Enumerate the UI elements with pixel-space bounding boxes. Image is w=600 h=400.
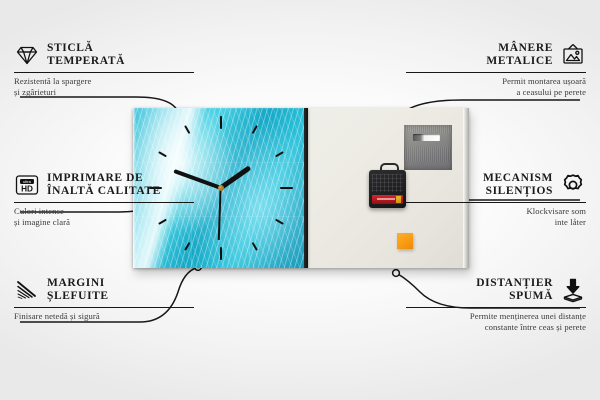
metal-hanger-plate [404,125,452,170]
feature-high-quality-print: ultra HD IMPRIMARE DE ÎNALTĂ CALITATE Cu… [14,172,194,227]
feature-subtitle-line2: și imagine clară [14,217,194,228]
svg-text:HD: HD [21,185,33,194]
feature-title-line1: DISTANȚIER [476,277,553,290]
clock-tick [220,116,222,188]
feature-metal-handles: MÂNERE METALICE Permit montarea ușoară a… [406,42,586,97]
feature-title-line1: MÂNERE [486,42,553,55]
picture-frame-icon [560,42,586,68]
feature-divider [14,202,194,203]
feature-divider [406,202,586,203]
diamond-icon [14,42,40,68]
feature-subtitle-line1: Permit montarea ușoară [406,76,586,87]
feature-divider [406,307,586,308]
feature-foam-spacer: DISTANȚIER SPUMĂ Permite menținerea unei… [406,277,586,332]
battery-label [377,198,395,200]
clock-tick [221,187,293,189]
feature-silent-mechanism: MECANISM SILENȚIOS Klockvisare som inte … [406,172,586,227]
ultra-hd-icon: ultra HD [14,172,40,198]
svg-text:ultra: ultra [23,179,32,184]
mechanism-texture [372,174,403,192]
feature-subtitle-line2: a ceasului pe perete [406,87,586,98]
feature-polished-edges: MARGINI ȘLEFUITE Finisare netedă și sigu… [14,277,194,322]
feature-tempered-glass: STICLĂ TEMPERATĂ Rezistentă la spargere … [14,42,194,97]
feature-subtitle-line1: Permite menținerea unei distanțe [406,311,586,322]
clock-center-cap [218,185,224,191]
feature-title-line1: IMPRIMARE DE [47,172,161,185]
down-arrow-stack-icon [560,277,586,303]
feature-divider [406,72,586,73]
feature-title-line2: TEMPERATĂ [47,55,125,68]
hanger-slot [413,134,440,141]
infographic-stage: STICLĂ TEMPERATĂ Rezistentă la spargere … [0,0,600,400]
feature-title-line2: ȘLEFUITE [47,290,109,303]
feature-subtitle-line1: Klockvisare som [406,206,586,217]
feature-title-line1: STICLĂ [47,42,125,55]
feature-title-line2: METALICE [486,55,553,68]
feature-title-line2: SILENȚIOS [483,185,553,198]
feature-subtitle-line1: Rezistentă la spargere [14,76,194,87]
polished-edges-icon [14,277,40,303]
feature-subtitle-line1: Culori intense [14,206,194,217]
feature-title-line1: MARGINI [47,277,109,290]
gear-icon [560,172,586,198]
feature-divider [14,307,194,308]
feature-subtitle-line2: constante între ceas și perete [406,322,586,333]
foam-spacer-piece [397,233,413,249]
feature-subtitle-line2: inte låter [406,217,586,228]
feature-subtitle-line1: Finisare netedă și sigură [14,311,194,322]
feature-subtitle-line2: și zgârieturi [14,87,194,98]
feature-title-line2: ÎNALTĂ CALITATE [47,185,161,198]
battery [372,195,403,204]
feature-divider [14,72,194,73]
clock-mechanism [369,170,406,208]
mechanism-hanging-loop [380,163,399,174]
glass-right-edge [304,108,308,268]
feature-title-line2: SPUMĂ [476,290,553,303]
feature-title-line1: MECANISM [483,172,553,185]
